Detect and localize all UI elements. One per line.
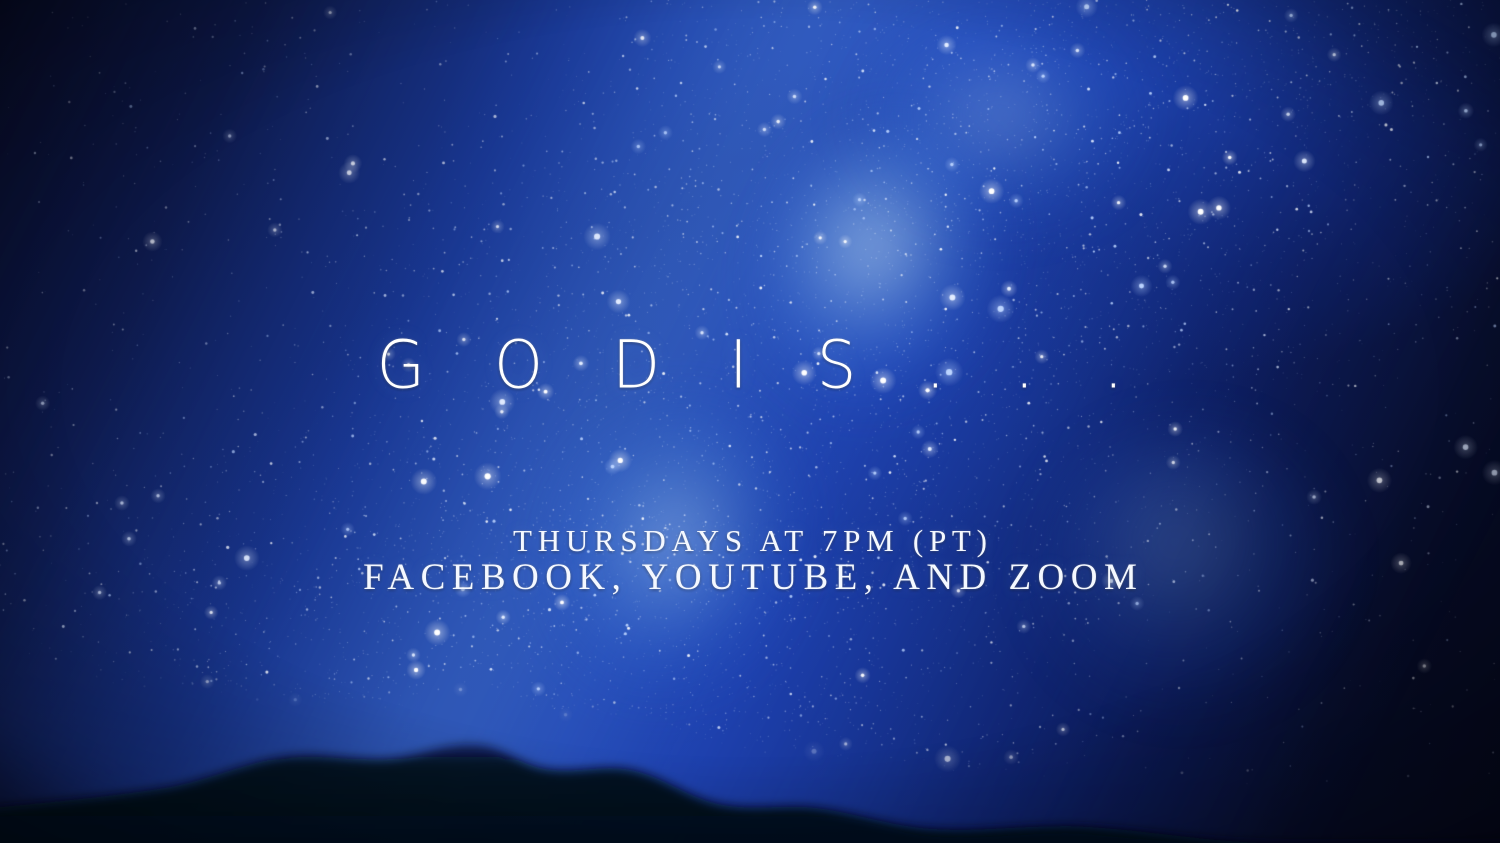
- slide-canvas: G O D I S . . . THURSDAYS AT 7PM (PT) FA…: [0, 0, 1500, 843]
- schedule-time-line: THURSDAYS AT 7PM (PT): [0, 524, 1500, 558]
- page-title: G O D I S . . .: [0, 332, 1500, 398]
- slide-content: G O D I S . . . THURSDAYS AT 7PM (PT) FA…: [0, 0, 1500, 843]
- schedule-platforms-line: FACEBOOK, YOUTUBE, AND ZOOM: [0, 558, 1500, 598]
- schedule-block: THURSDAYS AT 7PM (PT) FACEBOOK, YOUTUBE,…: [0, 524, 1500, 598]
